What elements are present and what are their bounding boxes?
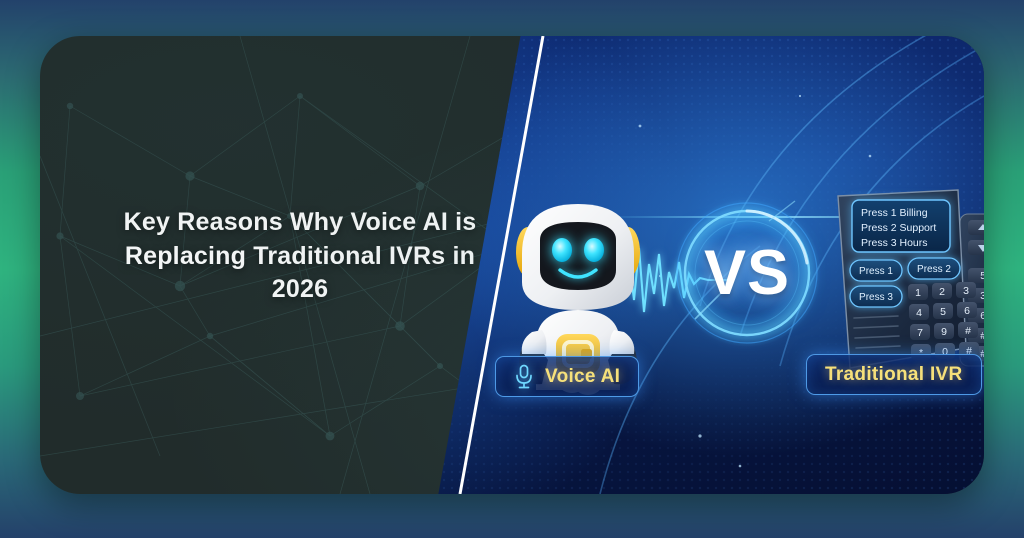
- svg-text:9: 9: [941, 326, 947, 338]
- vs-badge: VS: [667, 193, 827, 353]
- svg-text:1: 1: [915, 287, 921, 299]
- svg-text:Press 1: Press 1: [859, 266, 893, 277]
- svg-text:Press 3 Hours: Press 3 Hours: [861, 237, 928, 249]
- comparison-banner-card: Key Reasons Why Voice AI is Replacing Tr…: [40, 36, 984, 494]
- svg-text:Press 3: Press 3: [859, 292, 893, 303]
- traditional-ivr-label-badge[interactable]: Traditional IVR: [806, 354, 982, 395]
- svg-text:5: 5: [940, 306, 946, 318]
- svg-text:#: #: [965, 325, 971, 337]
- page-title: Key Reasons Why Voice AI is Replacing Tr…: [110, 206, 490, 307]
- traditional-ivr-label: Traditional IVR: [825, 364, 963, 386]
- svg-text:6: 6: [964, 305, 970, 317]
- voice-ai-label-badge[interactable]: Voice AI: [495, 356, 639, 397]
- svg-text:3: 3: [963, 285, 969, 297]
- svg-text:3: 3: [980, 291, 984, 302]
- svg-text:#: #: [980, 331, 984, 342]
- svg-text:5: 5: [980, 271, 984, 282]
- svg-text:Press 2: Press 2: [917, 264, 951, 275]
- svg-text:2: 2: [939, 286, 945, 298]
- voice-ai-label: Voice AI: [545, 366, 620, 388]
- svg-text:4: 4: [916, 307, 922, 319]
- svg-text:Press 2 Support: Press 2 Support: [861, 222, 936, 234]
- svg-text:7: 7: [917, 327, 923, 339]
- vs-label: VS: [667, 193, 827, 353]
- svg-text:Press 1 Billing: Press 1 Billing: [861, 207, 928, 219]
- svg-text:6: 6: [980, 311, 984, 322]
- microphone-icon: [514, 364, 534, 390]
